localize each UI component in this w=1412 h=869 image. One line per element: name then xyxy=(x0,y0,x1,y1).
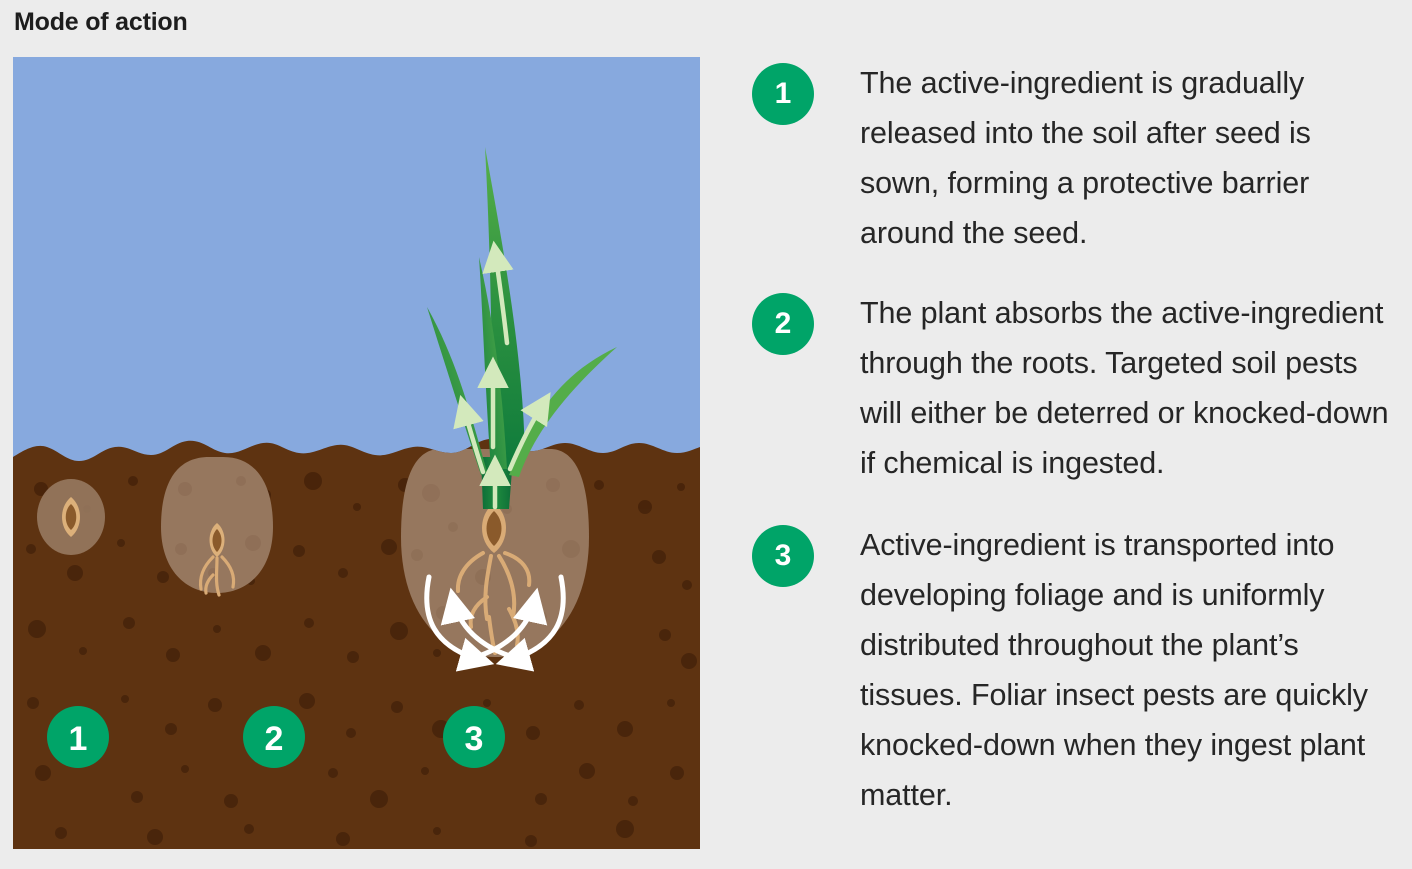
step-1-text: The active-ingredient is gradually relea… xyxy=(860,58,1398,258)
step-3-text: Active-ingredient is transported into de… xyxy=(860,520,1398,820)
mode-of-action-illustration: 1 2 3 xyxy=(13,57,700,849)
page-title: Mode of action xyxy=(14,8,188,37)
soil-badge-1: 1 xyxy=(47,706,109,768)
soil-badge-3: 3 xyxy=(443,706,505,768)
step-item-1: 1 The active-ingredient is gradually rel… xyxy=(752,58,1398,258)
stage-2-group xyxy=(161,457,273,595)
step-item-3: 3 Active-ingredient is transported into … xyxy=(752,520,1398,820)
soil-badge-3-label: 3 xyxy=(465,720,484,758)
step-item-2: 2 The plant absorbs the active-ingredien… xyxy=(752,288,1398,488)
soil-badge-1-label: 1 xyxy=(69,720,88,758)
soil-badge-2-label: 2 xyxy=(265,720,284,758)
step-2-text: The plant absorbs the active-ingredient … xyxy=(860,288,1398,488)
step-2-badge: 2 xyxy=(752,293,814,355)
step-1-badge: 1 xyxy=(752,63,814,125)
steps-list: 1 The active-ingredient is gradually rel… xyxy=(752,52,1398,820)
stage-1-seed-group xyxy=(37,479,105,555)
step-3-badge: 3 xyxy=(752,525,814,587)
illustration-canvas: 1 2 3 xyxy=(13,57,700,849)
soil-layer: 1 2 3 xyxy=(13,437,700,849)
soil-badge-2: 2 xyxy=(243,706,305,768)
